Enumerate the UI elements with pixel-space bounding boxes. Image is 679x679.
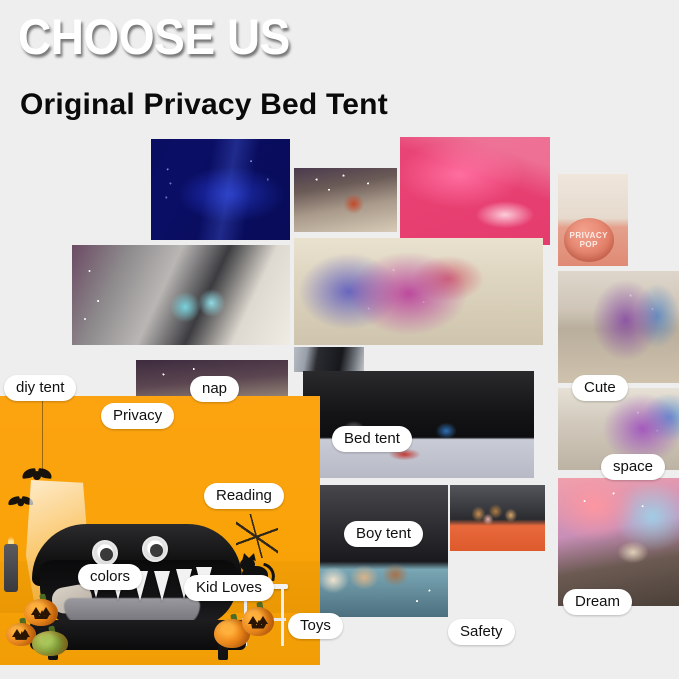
photo-black-bed-tent <box>303 371 534 478</box>
pumpkin-icon <box>32 626 68 656</box>
photo-image <box>400 137 550 245</box>
label-colors: colors <box>78 564 142 590</box>
photo-blue-glow-tent <box>151 139 290 240</box>
photo-dream-galaxy-bed <box>558 478 679 606</box>
label-bed-tent: Bed tent <box>332 426 412 452</box>
photo-image <box>294 168 397 232</box>
label-cute: Cute <box>572 375 628 401</box>
label-diy-tent: diy tent <box>4 375 76 401</box>
label-privacy: Privacy <box>101 403 174 429</box>
privacy-pop-logo: PRIVACY POP <box>564 218 614 262</box>
photo-pink-tent-bed <box>400 137 550 245</box>
photo-starry-room-tent <box>294 168 397 232</box>
photo-image <box>303 371 534 478</box>
photo-halloween-monster-bed-tent <box>0 396 320 665</box>
photo-image <box>450 485 545 551</box>
photo-cute-galaxy-tent <box>558 271 679 383</box>
page-title: CHOOSE US <box>18 10 290 64</box>
photo-narrow-dark-tent <box>294 347 364 372</box>
brand-line-2: POP <box>564 240 614 249</box>
label-boy-tent: Boy tent <box>344 521 423 547</box>
candle-icon <box>4 536 18 592</box>
label-kid-loves: Kid Loves <box>184 575 274 601</box>
photo-privacy-pop-bag: PRIVACY POP <box>558 174 628 266</box>
label-reading: Reading <box>204 483 284 509</box>
monster-eye-icon <box>92 540 118 566</box>
photo-image <box>558 478 679 606</box>
label-safety: Safety <box>448 619 515 645</box>
monster-eye-icon <box>142 536 168 562</box>
infographic-page: CHOOSE US Original Privacy Bed Tent PRIV… <box>0 0 679 679</box>
label-nap: nap <box>190 376 239 402</box>
photo-image <box>294 238 543 345</box>
pumpkin-icon <box>242 602 274 636</box>
label-space: space <box>601 454 665 480</box>
brand-line-1: PRIVACY <box>564 231 614 240</box>
photo-galaxy-tent-window <box>294 238 543 345</box>
photo-kids-reading-tent <box>72 245 290 345</box>
label-dream: Dream <box>563 589 632 615</box>
photo-image <box>151 139 290 240</box>
photo-image <box>72 245 290 345</box>
label-toys: Toys <box>288 613 343 639</box>
photo-image <box>294 347 364 372</box>
page-subtitle: Original Privacy Bed Tent <box>20 88 388 122</box>
photo-safety-tent-toys <box>450 485 545 551</box>
bat-string <box>42 396 43 474</box>
monster-tooth-icon <box>154 571 170 601</box>
photo-image: PRIVACY POP <box>558 174 628 266</box>
photo-image <box>558 271 679 383</box>
